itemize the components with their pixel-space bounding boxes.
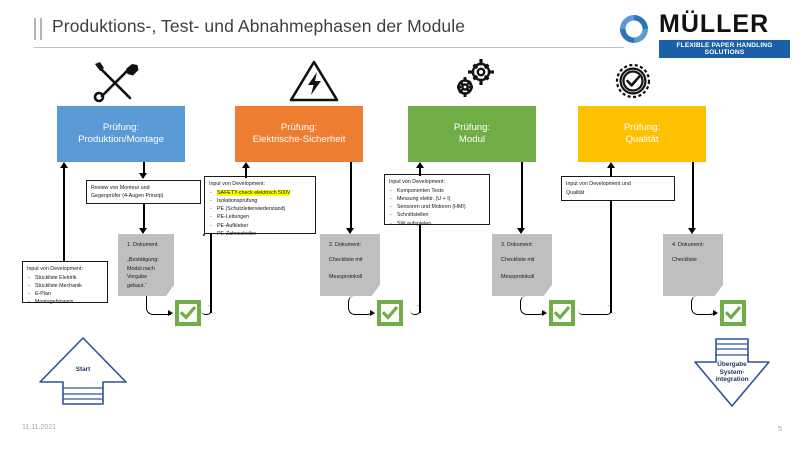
- input2-item-3: PE-Leitungen: [209, 213, 311, 221]
- document-2: 2. Dokument: Checkliste mit Messprotokol…: [320, 234, 380, 296]
- electrical-hazard-icon: [288, 58, 340, 109]
- footer-date: 11.11.2021: [22, 424, 56, 431]
- input-note-3: Input von Development: Komponenten Tests…: [384, 174, 490, 225]
- input-note-2: Input von Development: SAFETY-check elek…: [204, 176, 316, 234]
- phase3-line2: Modul: [454, 134, 490, 147]
- arrowhead-phase4-doc4: [688, 228, 696, 234]
- doc3-body1: Checkliste mit: [501, 256, 552, 264]
- connector-check2-up-to-input3: [419, 225, 421, 313]
- end-label-line3: integration: [715, 376, 748, 383]
- doc2-title: 2. Dokument:: [329, 241, 380, 249]
- phase1-line2: Produktion/Montage: [78, 134, 164, 147]
- arrowhead-input1-phase1: [60, 162, 68, 168]
- connector-review-to-doc1: [143, 204, 145, 230]
- phase-box-qualitaet[interactable]: Prüfung: Qualität: [578, 106, 706, 162]
- doc1-body4: gebaut.“: [127, 283, 147, 289]
- doc1-body1: „Bestätigung:: [127, 256, 174, 264]
- gears-cogs-icon: [448, 56, 502, 109]
- connector-phase4-to-doc4: [692, 162, 694, 230]
- doc2-body2: Messprotokoll: [329, 274, 362, 280]
- arrowhead-phase2-doc2: [346, 228, 354, 234]
- arrowhead-doc4-check4: [713, 310, 718, 316]
- end-block-arrow: Übergabe System- integration: [691, 336, 773, 408]
- logo-wordmark: MÜLLER: [659, 9, 769, 39]
- arrowhead-doc3-check3: [542, 310, 547, 316]
- input4-header: Input von Development und: [566, 180, 670, 188]
- doc4-title: 4. Dokument:: [672, 241, 723, 249]
- input3-item-1: Messung elektr. (U + I): [389, 195, 485, 203]
- phase2-line1: Prüfung:: [253, 122, 346, 135]
- arrowhead-input2-phase2: [242, 162, 250, 168]
- arrowhead-review-doc1: [139, 228, 147, 234]
- document-4: 4. Dokument: Checkliste: [663, 234, 723, 296]
- input2-item-0: SAFETY-check elektrisch 500V: [217, 190, 290, 196]
- connector-input1-to-phase1: [63, 168, 65, 261]
- input3-header: Input von Development:: [389, 178, 485, 186]
- connector-check1-up-to-input2: [210, 234, 212, 313]
- input1-item-3: Montagehinweis: [27, 298, 103, 306]
- arrowhead-doc1-check1: [168, 310, 173, 316]
- phase-box-modul[interactable]: Prüfung: Modul: [408, 106, 536, 162]
- doc4-body1: Checkliste: [672, 256, 723, 264]
- input2-item-2: PE (Schutzleiterwiederstand): [209, 205, 311, 213]
- arrowhead-input4-phase4: [607, 162, 615, 168]
- input2-item-5: PE-Zahnscheibe: [209, 230, 311, 238]
- arrowhead-phase1-review: [139, 173, 147, 179]
- input-note-1: Input von Development: Stückliste Elektr…: [22, 261, 108, 303]
- tools-wrench-screwdriver-icon: [88, 58, 142, 111]
- doc1-title: 1. Dokument: [127, 241, 174, 249]
- connector-phase2-to-doc2: [350, 162, 352, 230]
- arrowhead-phase3-doc3: [517, 228, 525, 234]
- input3-item-2: Sensoren und Motoren (HMI): [389, 203, 485, 211]
- spacer-elbow-a: [203, 234, 205, 236]
- doc2-body1: Checkliste mit: [329, 256, 380, 264]
- page-title: Produktions-, Test- und Abnahmephasen de…: [52, 16, 465, 37]
- arrowhead-doc2-check2: [370, 310, 375, 316]
- input-note-4: Input von Development und Qualität: [561, 176, 675, 201]
- doc3-title: 3. Dokument:: [501, 241, 552, 249]
- connector-input2-to-phase2: [245, 168, 247, 178]
- check-box-3: [549, 300, 575, 326]
- connector-check3-up-to-input4: [610, 201, 612, 313]
- end-label-line2: System-: [720, 369, 745, 376]
- input3-item-3: Schnittstellen: [389, 211, 485, 219]
- review-line2: Gegenprüfer (4-Augen Prinzip): [91, 193, 163, 199]
- input1-item-1: Stückliste Mechanik: [27, 282, 103, 290]
- check-box-1: [175, 300, 201, 326]
- input2-header: Input von Development:: [209, 180, 311, 188]
- connector-input3-to-phase3: [419, 168, 421, 176]
- end-label-line1: Übergabe: [717, 361, 746, 368]
- start-block-arrow: Start: [37, 336, 129, 406]
- elbow-check2-right: [410, 305, 421, 315]
- input2-item-4: PE-Aufkleber: [209, 222, 311, 230]
- company-logo: MÜLLER FLEXIBLE PAPER HANDLING SOLUTIONS: [615, 9, 790, 53]
- document-1: 1. Dokument „Bestätigung: Modul nach Vor…: [118, 234, 174, 296]
- quality-seal-check-icon: [609, 58, 657, 109]
- footer-page-number: 5: [778, 424, 782, 433]
- phase4-line1: Prüfung:: [624, 122, 660, 135]
- input1-item-0: Stückliste Elektrik: [27, 274, 103, 282]
- doc3-body2: Messprotokoll: [501, 274, 534, 280]
- check-box-2: [377, 300, 403, 326]
- title-accent-bars: [34, 18, 44, 40]
- input2-item-1: Isolationsprüfung: [209, 197, 311, 205]
- review-line1: Review von Monteur und: [91, 185, 150, 191]
- phase-box-elektrische-sicherheit[interactable]: Prüfung: Elektrische-Sicherheit: [235, 106, 363, 162]
- input1-header: Input von Development:: [27, 265, 103, 273]
- elbow-check3-right: [578, 305, 612, 315]
- check-box-4: [720, 300, 746, 326]
- review-note-box: Review von Monteur und Gegenprüfer (4-Au…: [86, 180, 201, 204]
- start-label: Start: [37, 366, 129, 374]
- input1-item-2: E-Plan: [27, 290, 103, 298]
- elbow-check1-right: [201, 305, 212, 315]
- arrowhead-input3-phase3: [416, 162, 424, 168]
- connector-input4-to-phase4: [610, 168, 612, 177]
- logo-tagline: FLEXIBLE PAPER HANDLING SOLUTIONS: [659, 40, 790, 58]
- input4-item-0: Qualität: [566, 190, 584, 196]
- input3-item-0: Komponenten Tests: [389, 187, 485, 195]
- doc1-body3: Vorgabe: [127, 274, 147, 280]
- phase2-line2: Elektrische-Sicherheit: [253, 134, 346, 147]
- phase-box-produktion-montage[interactable]: Prüfung: Produktion/Montage: [57, 106, 185, 162]
- phase3-line1: Prüfung:: [454, 122, 490, 135]
- phase4-line2: Qualität: [624, 134, 660, 147]
- doc1-body2: Modul nach: [127, 266, 155, 272]
- slide-canvas: Produktions-, Test- und Abnahmephasen de…: [0, 0, 800, 450]
- connector-phase3-to-doc3: [521, 162, 523, 230]
- circular-arrows-logo-icon: [615, 11, 653, 47]
- document-3: 3. Dokument: Checkliste mit Messprotokol…: [492, 234, 552, 296]
- end-label: Übergabe System- integration: [691, 361, 773, 384]
- phase1-line1: Prüfung:: [78, 122, 164, 135]
- title-divider: [34, 47, 624, 48]
- input3-item-4: SW aufspielen: [389, 220, 485, 228]
